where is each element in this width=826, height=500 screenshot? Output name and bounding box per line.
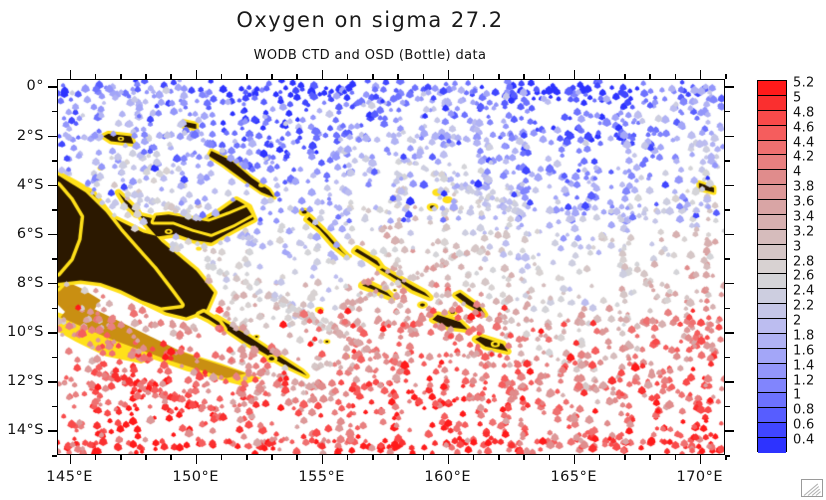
colorbar-swatch: [758, 96, 786, 111]
colorbar-tick-label: 4.6: [793, 120, 815, 135]
colorbar-tick-label: 4: [793, 165, 802, 180]
x-tick-top: [624, 74, 626, 79]
x-tick-top: [448, 70, 450, 79]
x-tick-top: [296, 74, 298, 79]
x-tick-top: [120, 74, 122, 79]
colorbar-swatch: [758, 141, 786, 156]
y-tick: [52, 258, 57, 260]
colorbar-swatch: [758, 304, 786, 319]
y-tick: [48, 381, 57, 383]
y-tick: [52, 209, 57, 211]
colorbar-tick-label: 2.6: [793, 269, 815, 284]
x-tick-top: [549, 74, 551, 79]
y-tick-right: [725, 455, 730, 457]
x-tick-top: [473, 74, 475, 79]
colorbar-swatch: [758, 319, 786, 334]
x-tick: [271, 455, 273, 460]
y-axis-label: 12°S: [7, 373, 44, 389]
x-tick-top: [423, 74, 425, 79]
chart-title: Oxygen on sigma 27.2: [0, 8, 740, 32]
x-tick: [95, 455, 97, 460]
y-axis-label: 4°S: [17, 177, 44, 193]
colorbar-tick-label: 1.2: [793, 373, 815, 388]
resize-grip-icon[interactable]: [801, 479, 823, 497]
map-plot-area[interactable]: [57, 79, 725, 455]
colorbar-tick-label: 4.8: [793, 105, 815, 120]
colorbar-swatch: [758, 393, 786, 408]
y-tick: [48, 185, 57, 187]
x-tick: [70, 455, 72, 464]
x-tick: [498, 455, 500, 460]
colorbar-tick-label: 5.2: [793, 76, 815, 91]
colorbar-tick-label: 3.6: [793, 195, 815, 210]
colorbar-tick-label: 0.4: [793, 433, 815, 448]
colorbar-tick-label: 1: [793, 388, 802, 403]
colorbar-tick-label: 3: [793, 239, 802, 254]
x-tick: [145, 455, 147, 460]
colorbar-swatch: [758, 349, 786, 364]
colorbar-swatch: [758, 111, 786, 126]
colorbar-swatch: [758, 379, 786, 394]
y-tick-right: [725, 357, 730, 359]
colorbar-swatch: [758, 423, 786, 438]
x-tick: [549, 455, 551, 460]
colorbar-swatch: [758, 185, 786, 200]
x-tick-top: [221, 74, 223, 79]
x-axis-label: 160°E: [424, 469, 471, 485]
x-tick: [624, 455, 626, 460]
y-tick: [48, 430, 57, 432]
x-tick: [221, 455, 223, 460]
colorbar-tick-label: 3.4: [793, 209, 815, 224]
y-tick-right: [725, 160, 730, 162]
y-axis-label: 8°S: [17, 275, 44, 291]
x-tick: [170, 455, 172, 460]
x-tick-top: [246, 74, 248, 79]
x-tick-top: [700, 70, 702, 79]
x-tick-top: [70, 70, 72, 79]
y-axis-label: 2°S: [17, 128, 44, 144]
colorbar-tick-label: 2: [793, 314, 802, 329]
y-tick: [48, 234, 57, 236]
y-tick: [48, 332, 57, 334]
x-axis-label: 170°E: [676, 469, 723, 485]
colorbar-swatch: [758, 334, 786, 349]
colorbar-swatch: [758, 289, 786, 304]
y-tick: [52, 111, 57, 113]
colorbar-swatch: [758, 230, 786, 245]
x-tick: [448, 455, 450, 464]
x-tick-top: [322, 70, 324, 79]
colorbar-tick-label: 3.8: [793, 180, 815, 195]
x-tick: [675, 455, 677, 460]
y-axis-label: 0°: [27, 78, 44, 94]
x-tick-top: [95, 74, 97, 79]
y-axis-label: 14°S: [7, 422, 44, 438]
y-tick-right: [725, 234, 734, 236]
y-tick-right: [725, 406, 730, 408]
y-tick: [48, 136, 57, 138]
x-tick-top: [523, 74, 525, 79]
y-tick-right: [725, 136, 734, 138]
x-tick-top: [271, 74, 273, 79]
x-tick-top: [196, 70, 198, 79]
x-tick-top: [397, 74, 399, 79]
x-tick-top: [170, 74, 172, 79]
y-tick-right: [725, 332, 734, 334]
colorbar-swatch: [758, 274, 786, 289]
colorbar-swatch: [758, 364, 786, 379]
colorbar-swatch: [758, 260, 786, 275]
y-tick-right: [725, 185, 734, 187]
colorbar-tick-label: 2.8: [793, 254, 815, 269]
colorbar-swatch: [758, 438, 786, 453]
y-tick: [48, 283, 57, 285]
colorbar-swatch: [758, 155, 786, 170]
colorbar-swatch: [758, 245, 786, 260]
x-tick-top: [574, 70, 576, 79]
y-tick: [52, 160, 57, 162]
colorbar-tick-label: 1.4: [793, 358, 815, 373]
colorbar-tick-label: 1.6: [793, 343, 815, 358]
chart-subtitle: WODB CTD and OSD (Bottle) data: [0, 48, 740, 63]
y-tick-right: [725, 283, 734, 285]
x-axis-label: 150°E: [172, 469, 219, 485]
colorbar-tick-label: 4.4: [793, 135, 815, 150]
x-tick-top: [649, 74, 651, 79]
x-tick: [196, 455, 198, 464]
y-tick-right: [725, 86, 734, 88]
x-tick: [296, 455, 298, 460]
y-tick-right: [725, 209, 730, 211]
y-axis-label: 10°S: [7, 324, 44, 340]
y-tick: [52, 455, 57, 457]
y-tick: [48, 86, 57, 88]
x-tick: [322, 455, 324, 464]
x-tick-top: [145, 74, 147, 79]
x-tick: [574, 455, 576, 464]
x-tick: [347, 455, 349, 460]
x-axis-label: 165°E: [550, 469, 597, 485]
colorbar-swatch: [758, 408, 786, 423]
colorbar-tick-label: 0.8: [793, 403, 815, 418]
x-tick: [423, 455, 425, 460]
x-axis-label: 155°E: [298, 469, 345, 485]
y-tick-right: [725, 258, 730, 260]
x-tick-top: [599, 74, 601, 79]
x-tick: [397, 455, 399, 460]
colorbar-swatch: [758, 126, 786, 141]
y-tick-right: [725, 111, 730, 113]
x-tick: [599, 455, 601, 460]
colorbar-swatch: [758, 200, 786, 215]
x-tick-top: [372, 74, 374, 79]
colorbar-tick-label: 2.2: [793, 299, 815, 314]
x-axis-label: 145°E: [46, 469, 93, 485]
x-tick: [246, 455, 248, 460]
x-tick: [372, 455, 374, 460]
x-tick: [649, 455, 651, 460]
x-tick-top: [498, 74, 500, 79]
colorbar-tick-label: 5: [793, 90, 802, 105]
colorbar-swatch: [758, 215, 786, 230]
y-tick: [52, 308, 57, 310]
colorbar-tick-label: 0.6: [793, 418, 815, 433]
x-tick-top: [347, 74, 349, 79]
y-tick-right: [725, 308, 730, 310]
y-tick-right: [725, 381, 734, 383]
y-tick: [52, 357, 57, 359]
x-tick-top: [675, 74, 677, 79]
x-tick: [120, 455, 122, 460]
colorbar-swatch: [758, 81, 786, 96]
y-tick: [52, 406, 57, 408]
x-tick-top: [725, 74, 727, 79]
x-tick: [700, 455, 702, 464]
colorbar-tick-label: 2.4: [793, 284, 815, 299]
x-tick: [473, 455, 475, 460]
x-tick: [523, 455, 525, 460]
colorbar-tick-label: 3.2: [793, 224, 815, 239]
oxygen-scatter-map: [58, 80, 724, 454]
figure-canvas: Oxygen on sigma 27.2 WODB CTD and OSD (B…: [0, 0, 826, 500]
colorbar-tick-label: 4.2: [793, 150, 815, 165]
colorbar[interactable]: [757, 80, 787, 452]
colorbar-swatch: [758, 170, 786, 185]
y-tick-right: [725, 430, 734, 432]
y-axis-label: 6°S: [17, 226, 44, 242]
colorbar-tick-label: 1.8: [793, 328, 815, 343]
